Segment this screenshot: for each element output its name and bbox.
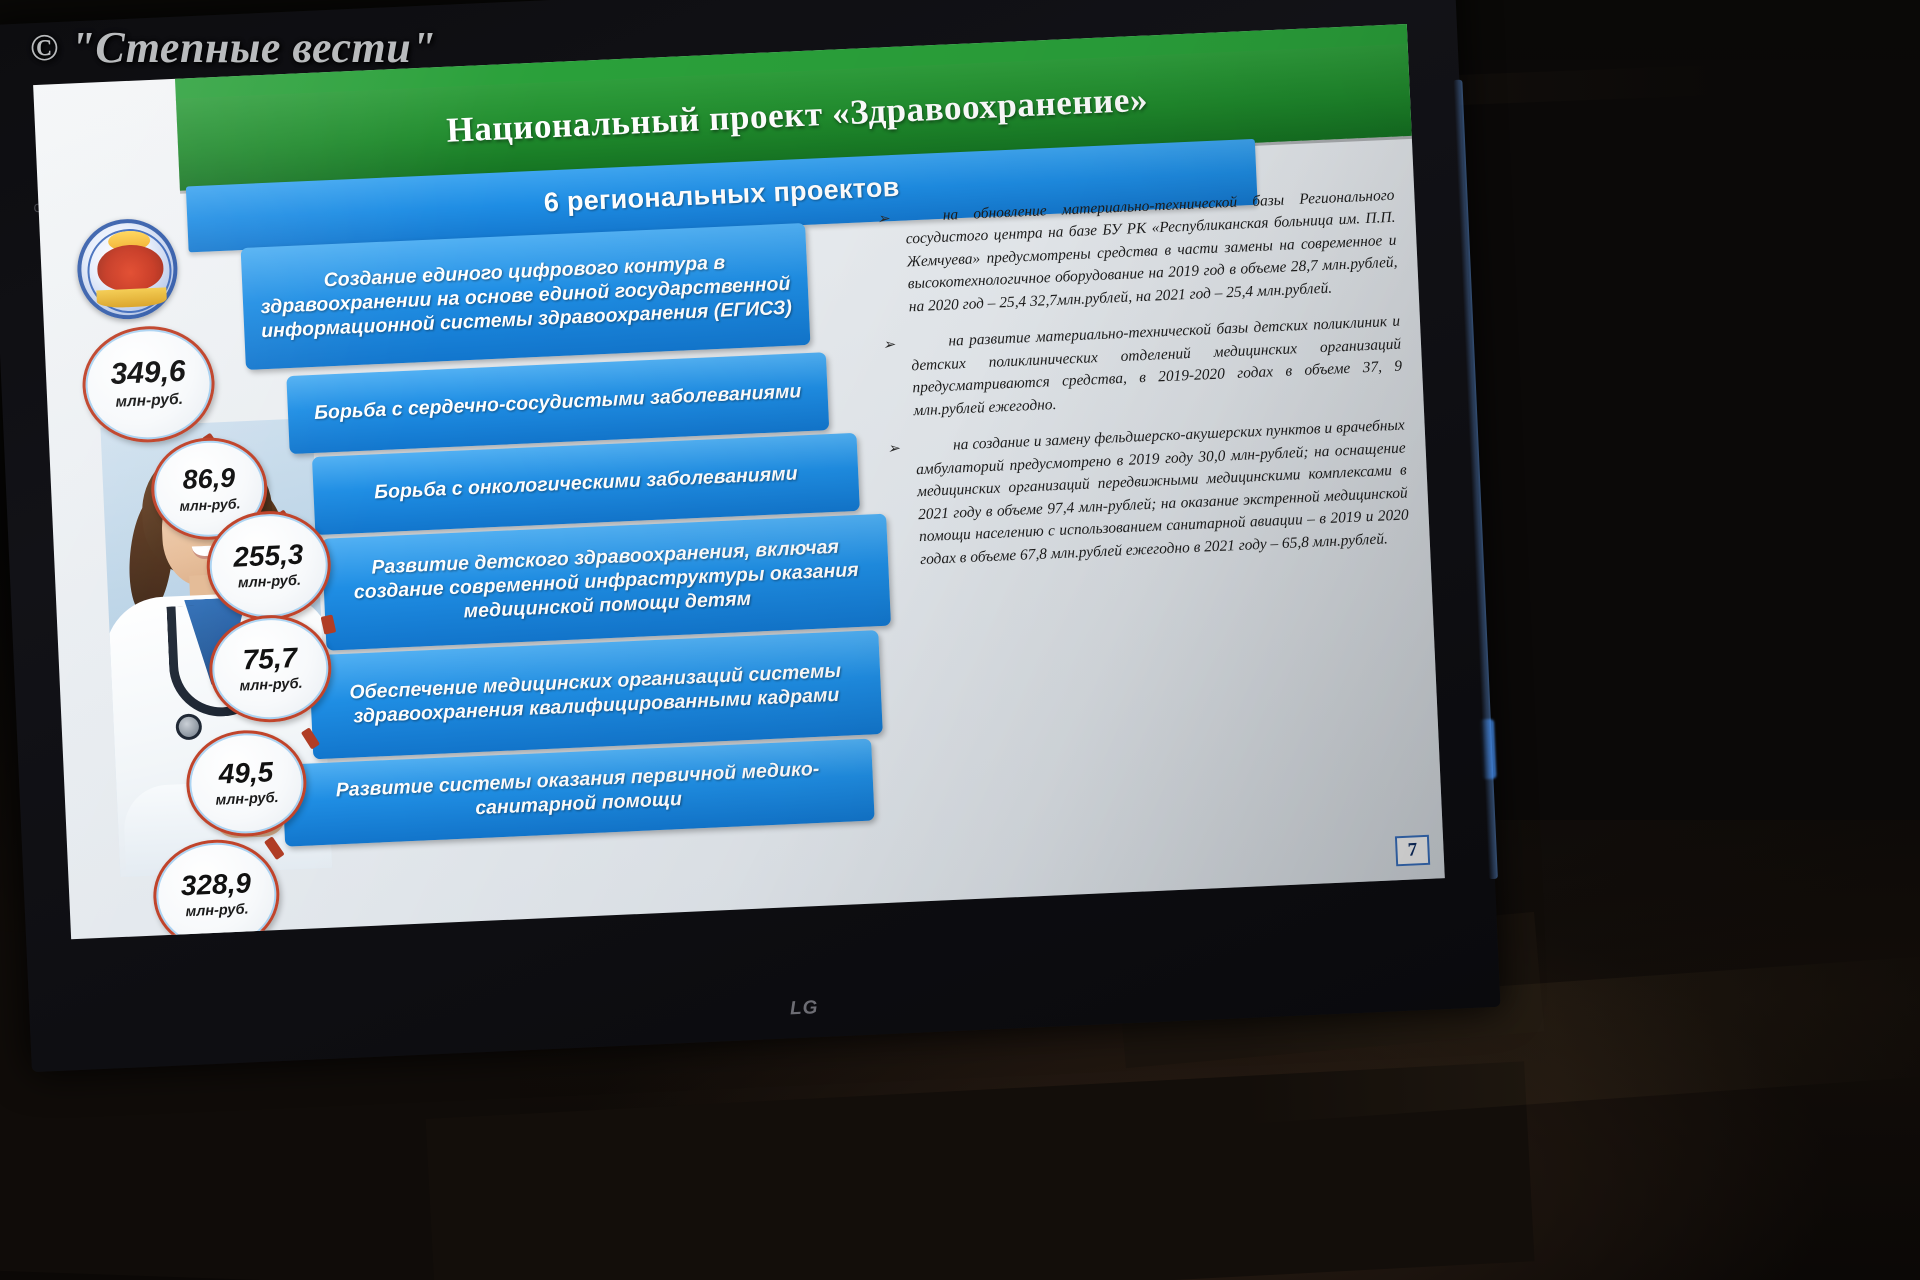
note-paragraph-1: ➢на обновление материально-технической б…	[874, 185, 1398, 320]
value-unit: млн-руб.	[215, 790, 279, 809]
project-bar-label: Борьба с сердечно-сосудистыми заболевани…	[314, 380, 802, 425]
value-amount: 328,9	[180, 870, 251, 901]
paragraph-indent	[905, 220, 943, 222]
note-paragraph-2: ➢на развитие материально-технической баз…	[880, 311, 1403, 424]
background-object	[1430, 60, 1920, 820]
project-bar-label: Развитие детского здравоохранения, включ…	[336, 535, 876, 630]
copyright-icon: ©	[30, 27, 59, 69]
monitor-brand: LG	[790, 997, 819, 1020]
paragraph-indent	[911, 346, 949, 348]
project-bar-label: Создание единого цифрового контура в здр…	[256, 249, 796, 344]
value-amount: 75,7	[242, 644, 298, 674]
monitor-bezel: OLITECH LG Национальный проект «Здравоох…	[0, 0, 1501, 1072]
project-bar-5[interactable]: Обеспечение медицинских организаций сист…	[309, 630, 883, 759]
watermark-text: "Степные вести"	[70, 23, 436, 72]
note-text: на обновление материально-технической ба…	[905, 187, 1397, 316]
screenshot-root: OLITECH LG Национальный проект «Здравоох…	[0, 0, 1920, 1280]
value-unit: млн-руб.	[179, 495, 241, 514]
paragraph-indent	[915, 450, 953, 452]
value-amount: 86,9	[182, 464, 236, 493]
value-unit: млн-руб.	[185, 902, 249, 921]
value-unit: млн-руб.	[115, 391, 183, 412]
project-bar-label: Борьба с онкологическими заболеваниями	[374, 463, 798, 506]
value-amount: 349,6	[110, 357, 186, 390]
value-unit: млн-руб.	[238, 572, 302, 591]
note-text: на создание и замену фельдшерско-акушерс…	[916, 417, 1409, 568]
note-paragraph-3: ➢на создание и замену фельдшерско-акушер…	[885, 415, 1410, 573]
bullet-arrow-icon: ➢	[877, 209, 891, 231]
value-bubble-6[interactable]: 328,9млн-руб.	[151, 837, 282, 939]
bullet-arrow-icon: ➢	[887, 439, 901, 461]
value-amount: 49,5	[218, 758, 274, 788]
bezel-power-led	[1480, 719, 1497, 780]
note-text: на развитие материально-технической базы…	[911, 313, 1402, 419]
project-bar-4[interactable]: Развитие детского здравоохранения, включ…	[322, 514, 891, 651]
bubble-connector	[264, 836, 285, 860]
presentation-slide: Национальный проект «Здравоохранение» 6 …	[33, 24, 1445, 939]
notes-panel: ➢на обновление материально-технической б…	[874, 185, 1424, 897]
watermark: © "Степные вести"	[30, 22, 436, 73]
bullet-arrow-icon: ➢	[882, 335, 896, 357]
project-bar-1[interactable]: Создание единого цифрового контура в здр…	[241, 223, 811, 370]
project-bar-label: Развитие системы оказания первичной меди…	[296, 756, 860, 829]
value-amount: 255,3	[233, 540, 304, 571]
value-bubble-1[interactable]: 349,6млн-руб.	[80, 323, 217, 445]
value-unit: млн-руб.	[239, 675, 303, 694]
page-number: 7	[1395, 835, 1430, 866]
project-bar-label: Обеспечение медицинских организаций сист…	[324, 659, 868, 731]
regional-projects-list: Создание единого цифрового контура в здр…	[40, 198, 901, 939]
